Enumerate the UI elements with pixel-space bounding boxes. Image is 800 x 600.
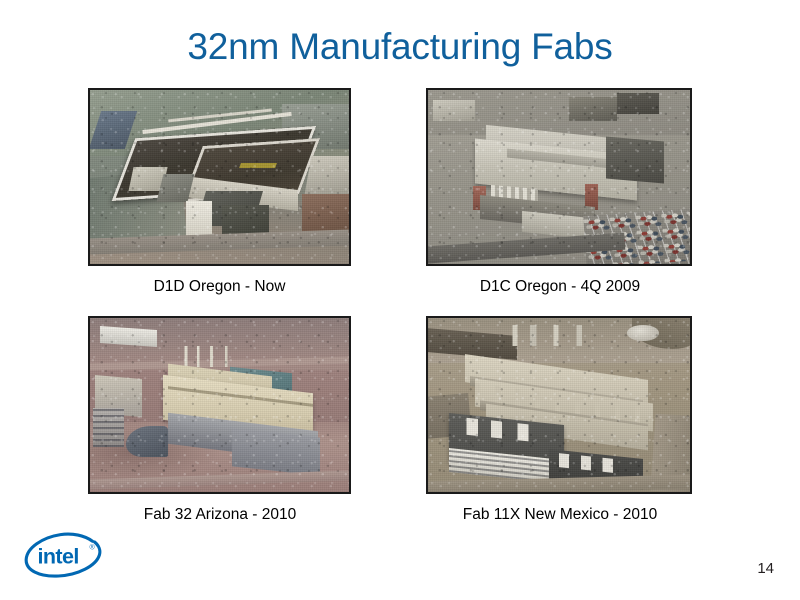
- photo-brick-building-right: [302, 194, 349, 232]
- fab-photo-fab32[interactable]: [88, 316, 351, 494]
- photo-office-windows: [93, 408, 124, 446]
- photo-rooftop-equipment: [507, 325, 596, 346]
- photo-exhaust-stacks: [178, 346, 245, 367]
- aerial-photo-d1d: [90, 90, 349, 264]
- fab-caption-fab32: Fab 32 Arizona - 2010: [80, 506, 360, 524]
- photo-building-upper-mid: [569, 97, 616, 121]
- fab-caption-d1c: D1C Oregon - 4Q 2009: [410, 278, 710, 296]
- fab-caption-d1d: D1D Oregon - Now: [88, 278, 351, 296]
- intel-wordmark: intel: [38, 545, 79, 569]
- photo-building-upper-left: [433, 100, 475, 121]
- photo-building-right: [304, 156, 349, 194]
- aerial-photo-fab32: [90, 318, 349, 492]
- intel-logo: intel ®: [22, 532, 110, 578]
- fab-photo-fab11x[interactable]: [426, 316, 692, 494]
- page-number: 14: [757, 560, 774, 577]
- fab-caption-fab11x: Fab 11X New Mexico - 2010: [410, 506, 710, 524]
- photo-roof-equipment: [239, 163, 277, 168]
- photo-storage-tank: [627, 325, 658, 341]
- aerial-photo-d1c: [428, 90, 690, 264]
- photo-road-bottom: [428, 475, 690, 492]
- page-title: 32nm Manufacturing Fabs: [0, 26, 800, 68]
- fab-photo-d1c[interactable]: [426, 88, 692, 266]
- photo-fab-roof-right: [606, 136, 664, 183]
- photo-support-block-b: [156, 174, 194, 202]
- photo-building-upper-right: [617, 93, 659, 114]
- fab-photo-d1d[interactable]: [88, 88, 351, 266]
- aerial-photo-fab11x: [428, 318, 690, 492]
- registered-trademark-icon: ®: [90, 544, 96, 552]
- photo-curved-entry: [126, 426, 167, 457]
